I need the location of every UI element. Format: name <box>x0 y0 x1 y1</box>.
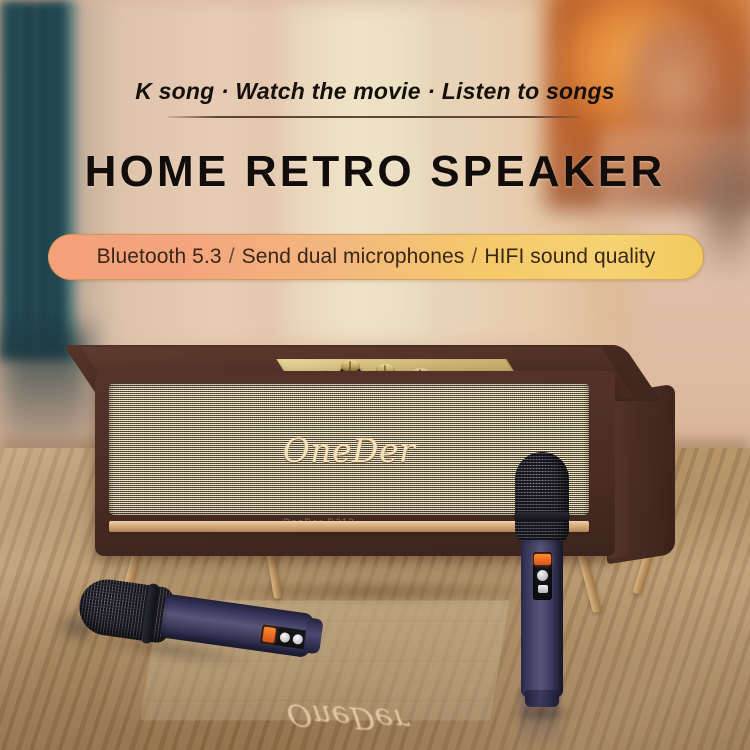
mic-body <box>160 594 315 658</box>
mic-led-display <box>534 554 551 565</box>
feature-pill: Bluetooth 5.3/Send dual microphones/HIFI… <box>48 234 704 280</box>
page-title: HOME RETRO SPEAKER <box>0 147 750 197</box>
feature-hifi: HIFI sound quality <box>484 245 655 268</box>
mic-mode-button[interactable] <box>538 585 548 593</box>
tagline-divider <box>168 116 580 118</box>
feature-bluetooth: Bluetooth 5.3 <box>97 245 222 268</box>
tagline: K song · Watch the movie · Listen to son… <box>0 78 750 105</box>
vertical-microphone <box>508 452 574 714</box>
feature-separator: / <box>464 245 484 268</box>
feature-list: Bluetooth 5.3/Send dual microphones/HIFI… <box>97 245 656 269</box>
mic-end-cap <box>303 618 324 655</box>
mic-collar-band <box>514 512 570 521</box>
mic-power-button[interactable] <box>537 570 548 581</box>
mic-led-display <box>262 627 276 644</box>
mic-mesh-head-icon <box>515 452 569 544</box>
feature-separator: / <box>222 245 242 268</box>
product-banner: OneDer OneDer OneDer D312 <box>0 0 750 750</box>
feature-dual-microphones: Send dual microphones <box>242 245 465 268</box>
retro-speaker: OneDer OneDer D312 <box>95 345 685 575</box>
mic-base-cap <box>525 690 559 707</box>
